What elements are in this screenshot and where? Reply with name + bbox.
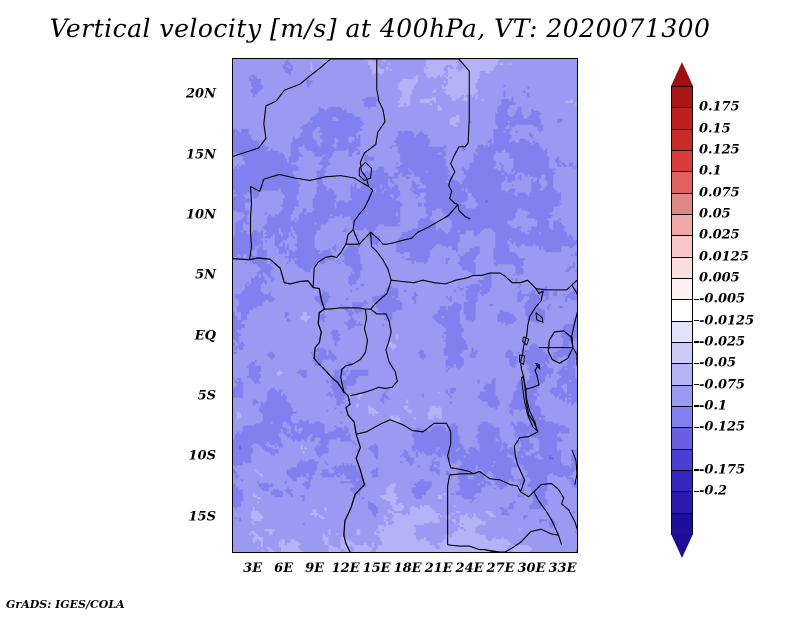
x-axis-label: 18E <box>394 561 422 576</box>
y-axis-label: 5S <box>198 389 216 404</box>
colorbar-band <box>671 363 693 386</box>
x-axis-label: 3E <box>243 561 262 576</box>
x-axis-label: 33E <box>549 561 577 576</box>
y-axis-label: 15S <box>189 509 216 524</box>
colorbar-tick-mark <box>694 341 699 343</box>
colorbar-tick-mark <box>694 320 699 322</box>
colorbar-tick-label: -0.05 <box>699 356 736 371</box>
colorbar-band <box>671 427 693 450</box>
y-axis-tick <box>232 215 233 217</box>
border-line <box>485 529 562 552</box>
border-line <box>514 289 543 492</box>
border-line <box>536 280 577 290</box>
colorbar-band <box>671 299 693 322</box>
border-line <box>572 285 577 366</box>
colorbar-band <box>671 491 693 514</box>
colorbar-tick-label: 0.05 <box>699 207 731 222</box>
border-line <box>534 492 559 535</box>
border-line <box>331 59 385 190</box>
colorbar-tick-label: -0.025 <box>699 335 745 350</box>
colorbar-tick-label: 0.075 <box>699 185 740 200</box>
border-line <box>473 471 563 503</box>
colorbar-tick-label: -0.005 <box>699 292 745 307</box>
border-line <box>522 376 537 430</box>
y-axis-label: 10S <box>189 449 216 464</box>
border-line <box>562 504 577 552</box>
y-axis-tick <box>232 155 233 157</box>
x-axis-tick <box>470 552 472 553</box>
colorbar-band <box>671 171 693 194</box>
x-axis-tick <box>408 552 410 553</box>
colorbar-band <box>671 107 693 130</box>
colorbar-band <box>671 257 693 280</box>
x-axis-label: 27E <box>487 561 515 576</box>
colorbar-band <box>671 193 693 216</box>
colorbar-band <box>671 321 693 344</box>
colorbar-tick-label: 0.025 <box>699 228 740 243</box>
x-axis-label: 24E <box>456 561 484 576</box>
border-line <box>448 474 474 545</box>
colorbar-tick-mark <box>694 427 699 429</box>
y-axis-tick <box>232 457 233 459</box>
x-axis-label: 9E <box>305 561 324 576</box>
border-line <box>572 450 577 485</box>
x-axis-label: 21E <box>425 561 453 576</box>
map-plot-area <box>232 58 578 553</box>
border-line <box>536 313 543 323</box>
x-axis-tick <box>439 552 441 553</box>
colorbar-tick-label: 0.15 <box>699 121 731 136</box>
border-line <box>341 309 368 392</box>
colorbar-tick-label: -0.125 <box>699 420 745 435</box>
y-axis-label: 5N <box>195 268 216 283</box>
colorbar-band <box>671 278 693 301</box>
grads-credit: GrADS: IGES/COLA <box>6 598 125 611</box>
colorbar-tick-label: -0.075 <box>699 377 745 392</box>
colorbar: 0.1750.150.1250.10.0750.050.0250.01250.0… <box>671 62 693 558</box>
colorbar-tick-label: 0.1 <box>699 164 722 179</box>
border-line <box>353 230 359 244</box>
colorbar-band <box>671 214 693 237</box>
colorbar-tick-label: -0.2 <box>699 484 727 499</box>
x-axis-tick <box>501 552 503 553</box>
y-axis-label: 20N <box>186 87 216 102</box>
colorbar-band <box>671 470 693 493</box>
y-axis-tick <box>232 396 233 398</box>
x-axis-label: 30E <box>518 561 546 576</box>
x-axis-tick <box>377 552 379 553</box>
x-axis-tick <box>253 552 255 553</box>
colorbar-band <box>671 235 693 258</box>
border-line <box>377 59 470 219</box>
colorbar-tick-label: 0.175 <box>699 100 740 115</box>
x-axis-tick <box>315 552 317 553</box>
colorbar-band <box>671 406 693 429</box>
colorbar-tick-mark <box>694 384 699 386</box>
colorbar-band <box>671 449 693 472</box>
colorbar-band <box>671 513 693 536</box>
x-axis-tick <box>532 552 534 553</box>
x-axis-tick <box>284 552 286 553</box>
colorbar-band <box>671 150 693 173</box>
y-axis-label: 15N <box>186 147 216 162</box>
colorbar-tick-label: -0.175 <box>699 463 745 478</box>
chart-title: Vertical velocity [m/s] at 400hPa, VT: 2… <box>0 14 760 43</box>
y-axis-tick <box>232 517 233 519</box>
colorbar-band <box>671 129 693 152</box>
colorbar-band <box>671 385 693 408</box>
colorbar-tick-label: -0.1 <box>699 399 727 414</box>
country-borders-overlay <box>233 59 577 552</box>
colorbar-tick-label: 0.005 <box>699 271 740 286</box>
colorbar-tick-mark <box>694 363 699 365</box>
colorbar-tick-mark <box>694 491 699 493</box>
y-axis-label: EQ <box>195 328 216 343</box>
colorbar-tick-label: 0.0125 <box>699 249 749 264</box>
border-line <box>548 331 573 363</box>
colorbar-cap-top <box>671 62 693 86</box>
x-axis-label: 12E <box>332 561 360 576</box>
colorbar-cap-bottom <box>671 534 693 558</box>
colorbar-tick-mark <box>694 299 699 301</box>
x-axis-tick <box>346 552 348 553</box>
colorbar-tick-label: 0.125 <box>699 143 740 158</box>
x-axis-tick <box>563 552 565 553</box>
colorbar-band <box>671 342 693 365</box>
border-line <box>356 420 473 474</box>
y-axis-tick <box>232 336 233 338</box>
border-line <box>249 186 251 259</box>
y-axis-tick <box>232 276 233 278</box>
colorbar-tick-label: -0.0125 <box>699 313 754 328</box>
border-line <box>250 174 368 191</box>
border-line <box>233 258 364 552</box>
border-line <box>233 59 331 156</box>
x-axis-label: 6E <box>274 561 293 576</box>
y-axis-label: 10N <box>186 207 216 222</box>
colorbar-tick-mark <box>694 405 699 407</box>
x-axis-label: 15E <box>363 561 391 576</box>
border-line <box>391 273 536 289</box>
colorbar-band <box>671 86 693 109</box>
colorbar-tick-mark <box>694 469 699 471</box>
y-axis-tick <box>232 94 233 96</box>
border-line <box>350 309 397 396</box>
border-line <box>525 364 539 389</box>
